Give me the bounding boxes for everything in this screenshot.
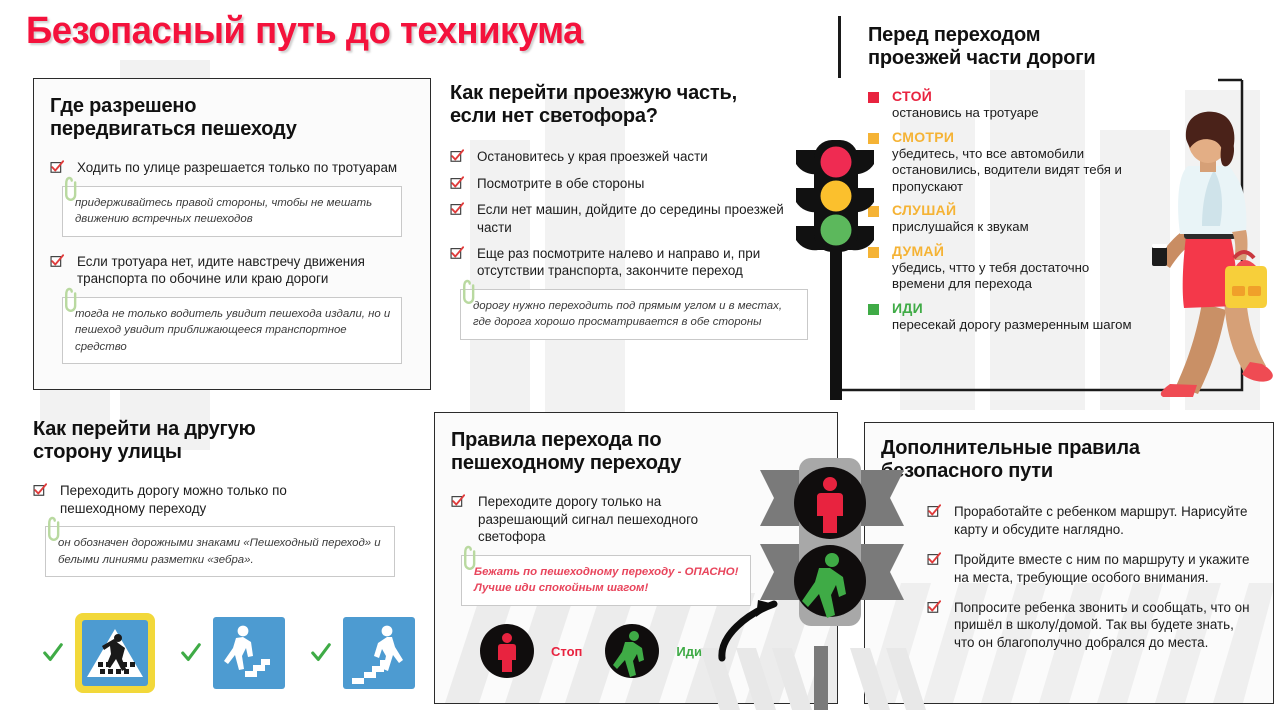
note-text: тогда не только водитель увидит пешехода… xyxy=(75,308,390,353)
step-text: остановись на тротуаре xyxy=(892,105,1140,122)
list-item: СТОЙ остановись на тротуаре xyxy=(868,88,1140,121)
panel-1-checklist: Ходить по улице разрешается только по тр… xyxy=(50,159,414,176)
note-box: тогда не только водитель увидит пешехода… xyxy=(62,297,402,365)
panel-2-checklist: Остановитесь у края проезжей части Посмо… xyxy=(450,148,808,280)
step-text: убедись, чтто у тебя достаточно времени … xyxy=(892,260,1140,293)
panel-1-checklist-2: Если тротуара нет, идите навстречу движе… xyxy=(50,253,414,288)
list-item-text: Остановитесь у края проезжей части xyxy=(477,149,708,164)
list-item: ИДИ пересекай дорогу размеренным шагом xyxy=(868,300,1140,333)
green-tick-icon xyxy=(310,642,332,664)
list-item: Если тротуара нет, идите навстречу движе… xyxy=(50,253,414,288)
overpass-sign[interactable] xyxy=(342,616,416,690)
step-text: пересекай дорогу размеренным шагом xyxy=(892,317,1140,334)
list-item-text: Переходите дорогу только на разрешающий … xyxy=(478,494,698,544)
panel-1-heading-line1: Где разрешено xyxy=(50,95,414,118)
panel-other-side-of-street: Как перейти на другую сторону улицы Пере… xyxy=(33,418,423,598)
green-walking-man-icon xyxy=(604,623,660,679)
list-item-text: Если нет машин, дойдите до середины прое… xyxy=(477,202,784,234)
list-item-text: Если тротуара нет, идите навстречу движе… xyxy=(77,254,365,286)
status-square-icon xyxy=(868,92,879,103)
paperclip-icon xyxy=(456,545,478,571)
checked-box-icon xyxy=(50,254,64,268)
panel-2-heading: Как перейти проезжую часть, если нет све… xyxy=(450,82,830,128)
list-item: Ходить по улице разрешается только по тр… xyxy=(50,159,414,176)
step-keyword: ДУМАЙ xyxy=(892,243,1140,260)
panel-2-heading-line1: Как перейти проезжую часть, xyxy=(450,82,830,105)
green-tick-icon xyxy=(42,642,64,664)
checked-box-icon xyxy=(33,483,47,497)
list-item: ДУМАЙ убедись, чтто у тебя достаточно вр… xyxy=(868,243,1140,293)
checked-box-icon xyxy=(450,246,464,260)
note-box: дорогу нужно переходить под прямым углом… xyxy=(460,289,808,340)
list-item-text: Еще раз посмотрите налево и направо и, п… xyxy=(477,246,760,278)
checked-box-icon xyxy=(450,149,464,163)
list-item-text: Посмотрите в обе стороны xyxy=(477,176,644,191)
signal-legend: Стоп Иди xyxy=(479,623,702,679)
list-item: Посмотрите в обе стороны xyxy=(450,175,808,192)
header-divider xyxy=(838,16,841,78)
list-item: Еще раз посмотрите налево и направо и, п… xyxy=(450,245,808,280)
note-text: дорогу нужно переходить под прямым углом… xyxy=(473,300,782,329)
checked-box-icon xyxy=(450,202,464,216)
underpass-sign[interactable] xyxy=(212,616,286,690)
note-box: придерживайтесь правой стороны, чтобы не… xyxy=(62,186,402,237)
list-item: Переходить дорогу можно только по пешехо… xyxy=(33,482,373,517)
panel-4-heading-line1: Как перейти на другую xyxy=(33,418,423,441)
list-item: Остановитесь у края проезжей части xyxy=(450,148,808,165)
panel-where-pedestrian-may-walk: Где разрешено передвигаться пешеходу Ход… xyxy=(33,78,431,390)
list-item-text: Попросите ребенка звонить и сообщать, чт… xyxy=(954,600,1250,650)
panel-5-checklist: Переходите дорогу только на разрешающий … xyxy=(451,493,701,545)
road-signs-row xyxy=(42,612,416,694)
signal-label-stop: Стоп xyxy=(551,644,582,659)
pedestrian-crossing-sign[interactable] xyxy=(74,612,156,694)
list-item-text: Проработайте с ребенком маршрут. Нарисуй… xyxy=(954,504,1247,536)
paperclip-icon xyxy=(455,279,477,305)
panel-1-heading: Где разрешено передвигаться пешеходу xyxy=(50,95,414,141)
panel-3-heading: Перед переходом проезжей части дороги xyxy=(868,24,1168,70)
list-item: Попросите ребенка звонить и сообщать, чт… xyxy=(927,599,1257,651)
step-text: прислушайся к звукам xyxy=(892,219,1140,236)
traffic-light-icon xyxy=(790,136,886,402)
paperclip-icon xyxy=(57,287,79,313)
note-text: он обозначен дорожными знаками «Пешеходн… xyxy=(58,537,381,566)
checked-box-icon xyxy=(451,494,465,508)
panel-cross-without-traffic-light: Как перейти проезжую часть, если нет све… xyxy=(450,82,820,382)
panel-1-heading-line2: передвигаться пешеходу xyxy=(50,118,414,141)
list-item: Переходите дорогу только на разрешающий … xyxy=(451,493,701,545)
panel-4-heading: Как перейти на другую сторону улицы xyxy=(33,418,423,464)
list-item: Если нет машин, дойдите до середины прое… xyxy=(450,201,808,236)
note-text: придерживайтесь правой стороны, чтобы не… xyxy=(75,197,372,226)
list-item-text: Ходить по улице разрешается только по тр… xyxy=(77,160,397,175)
list-item: Пройдите вместе с ним по маршруту и укаж… xyxy=(927,551,1257,586)
note-box: он обозначен дорожными знаками «Пешеходн… xyxy=(45,526,395,577)
step-keyword: СМОТРИ xyxy=(892,129,1140,146)
paperclip-icon xyxy=(40,516,62,542)
checked-box-icon xyxy=(50,160,64,174)
pedestrian-traffic-light-scene xyxy=(700,448,940,710)
step-keyword: СТОЙ xyxy=(892,88,1140,105)
panel-2-heading-line2: если нет светофора? xyxy=(450,105,830,128)
panel-6-checklist: Проработайте с ребенком маршрут. Нарисуй… xyxy=(927,503,1257,651)
panel-3-heading-line2: проезжей части дороги xyxy=(868,47,1168,70)
signal-label-go: Иди xyxy=(676,644,702,659)
list-item-text: Переходить дорогу можно только по пешехо… xyxy=(60,483,287,515)
panel-3-steps: СТОЙ остановись на тротуаре СМОТРИ убеди… xyxy=(868,88,1140,333)
panel-4-heading-line2: сторону улицы xyxy=(33,441,423,464)
green-tick-icon xyxy=(180,642,202,664)
checked-box-icon xyxy=(450,176,464,190)
paperclip-icon xyxy=(57,176,79,202)
panel-3-heading-line1: Перед переходом xyxy=(868,24,1168,47)
list-item-text: Пройдите вместе с ним по маршруту и укаж… xyxy=(954,552,1249,584)
list-item: СМОТРИ убедитесь, что все автомобили ост… xyxy=(868,129,1140,196)
list-item: Проработайте с ребенком маршрут. Нарисуй… xyxy=(927,503,1257,538)
panel-4-checklist: Переходить дорогу можно только по пешехо… xyxy=(33,482,373,517)
red-standing-man-icon xyxy=(479,623,535,679)
panel-before-crossing: Перед переходом проезжей части дороги СТ… xyxy=(868,24,1168,394)
list-item: СЛУШАЙ прислушайся к звукам xyxy=(868,202,1140,235)
step-text: убедитесь, что все автомобили остановили… xyxy=(892,146,1140,196)
walking-woman-illustration xyxy=(1150,108,1278,408)
step-keyword: СЛУШАЙ xyxy=(892,202,1140,219)
page-title: Безопасный путь до техникума xyxy=(26,10,583,53)
note-text: Бежать по пешеходному переходу - ОПАСНО!… xyxy=(474,566,738,595)
step-keyword: ИДИ xyxy=(892,300,1140,317)
